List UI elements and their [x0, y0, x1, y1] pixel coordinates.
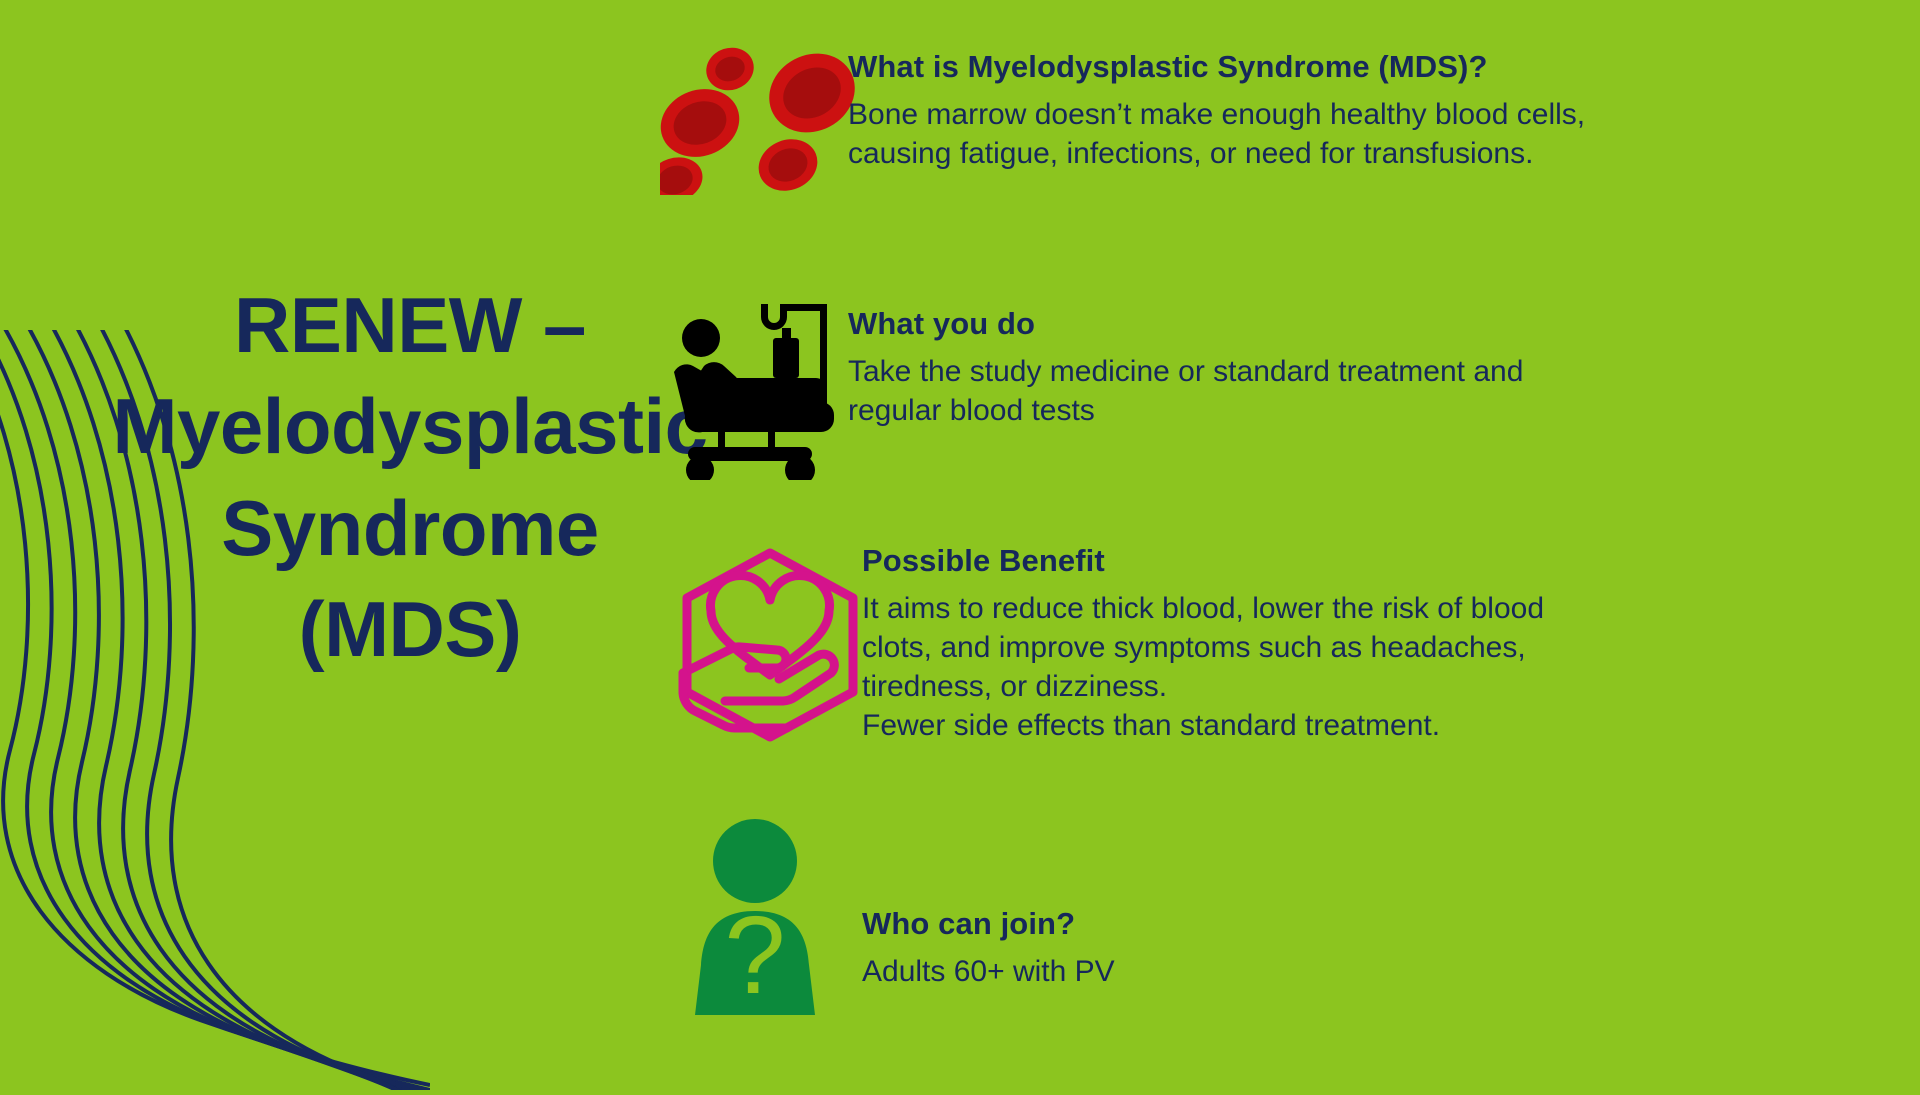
section-possible-benefit-text: Possible Benefit It aims to reduce thick… [862, 542, 1544, 745]
section-what-is-mds-text: What is Myelodysplastic Syndrome (MDS)? … [848, 48, 1585, 173]
section-heading: Who can join? [862, 905, 1115, 942]
section-body: Take the study medicine or standard trea… [848, 352, 1523, 430]
section-what-you-do-text: What you do Take the study medicine or s… [848, 305, 1523, 430]
body-line: regular blood tests [848, 391, 1523, 430]
section-heading: What you do [848, 305, 1523, 342]
sections-column: What is Myelodysplastic Syndrome (MDS)? … [790, 0, 1920, 1080]
section-heading: Possible Benefit [862, 542, 1544, 579]
body-line: Take the study medicine or standard trea… [848, 352, 1523, 391]
section-who-can-join-text: Who can join? Adults 60+ with PV [862, 905, 1115, 991]
heart-in-hand-hexagon-icon [665, 545, 875, 745]
body-line: tiredness, or dizziness. [862, 667, 1544, 706]
section-body: Bone marrow doesn’t make enough healthy … [848, 95, 1585, 173]
section-body: Adults 60+ with PV [862, 952, 1115, 991]
section-heading: What is Myelodysplastic Syndrome (MDS)? [848, 48, 1585, 85]
body-line: Fewer side effects than standard treatme… [862, 706, 1544, 745]
section-body: It aims to reduce thick blood, lower the… [862, 589, 1544, 745]
body-line: causing fatigue, infections, or need for… [848, 134, 1585, 173]
body-line: Adults 60+ with PV [862, 952, 1115, 991]
red-blood-cells-icon [660, 45, 870, 195]
body-line: It aims to reduce thick blood, lower the… [862, 589, 1544, 628]
body-line: Bone marrow doesn’t make enough healthy … [848, 95, 1585, 134]
person-question-mark-icon: ? [675, 815, 835, 1015]
body-line: clots, and improve symptoms such as head… [862, 628, 1544, 667]
hospital-bed-iv-icon [660, 290, 875, 480]
